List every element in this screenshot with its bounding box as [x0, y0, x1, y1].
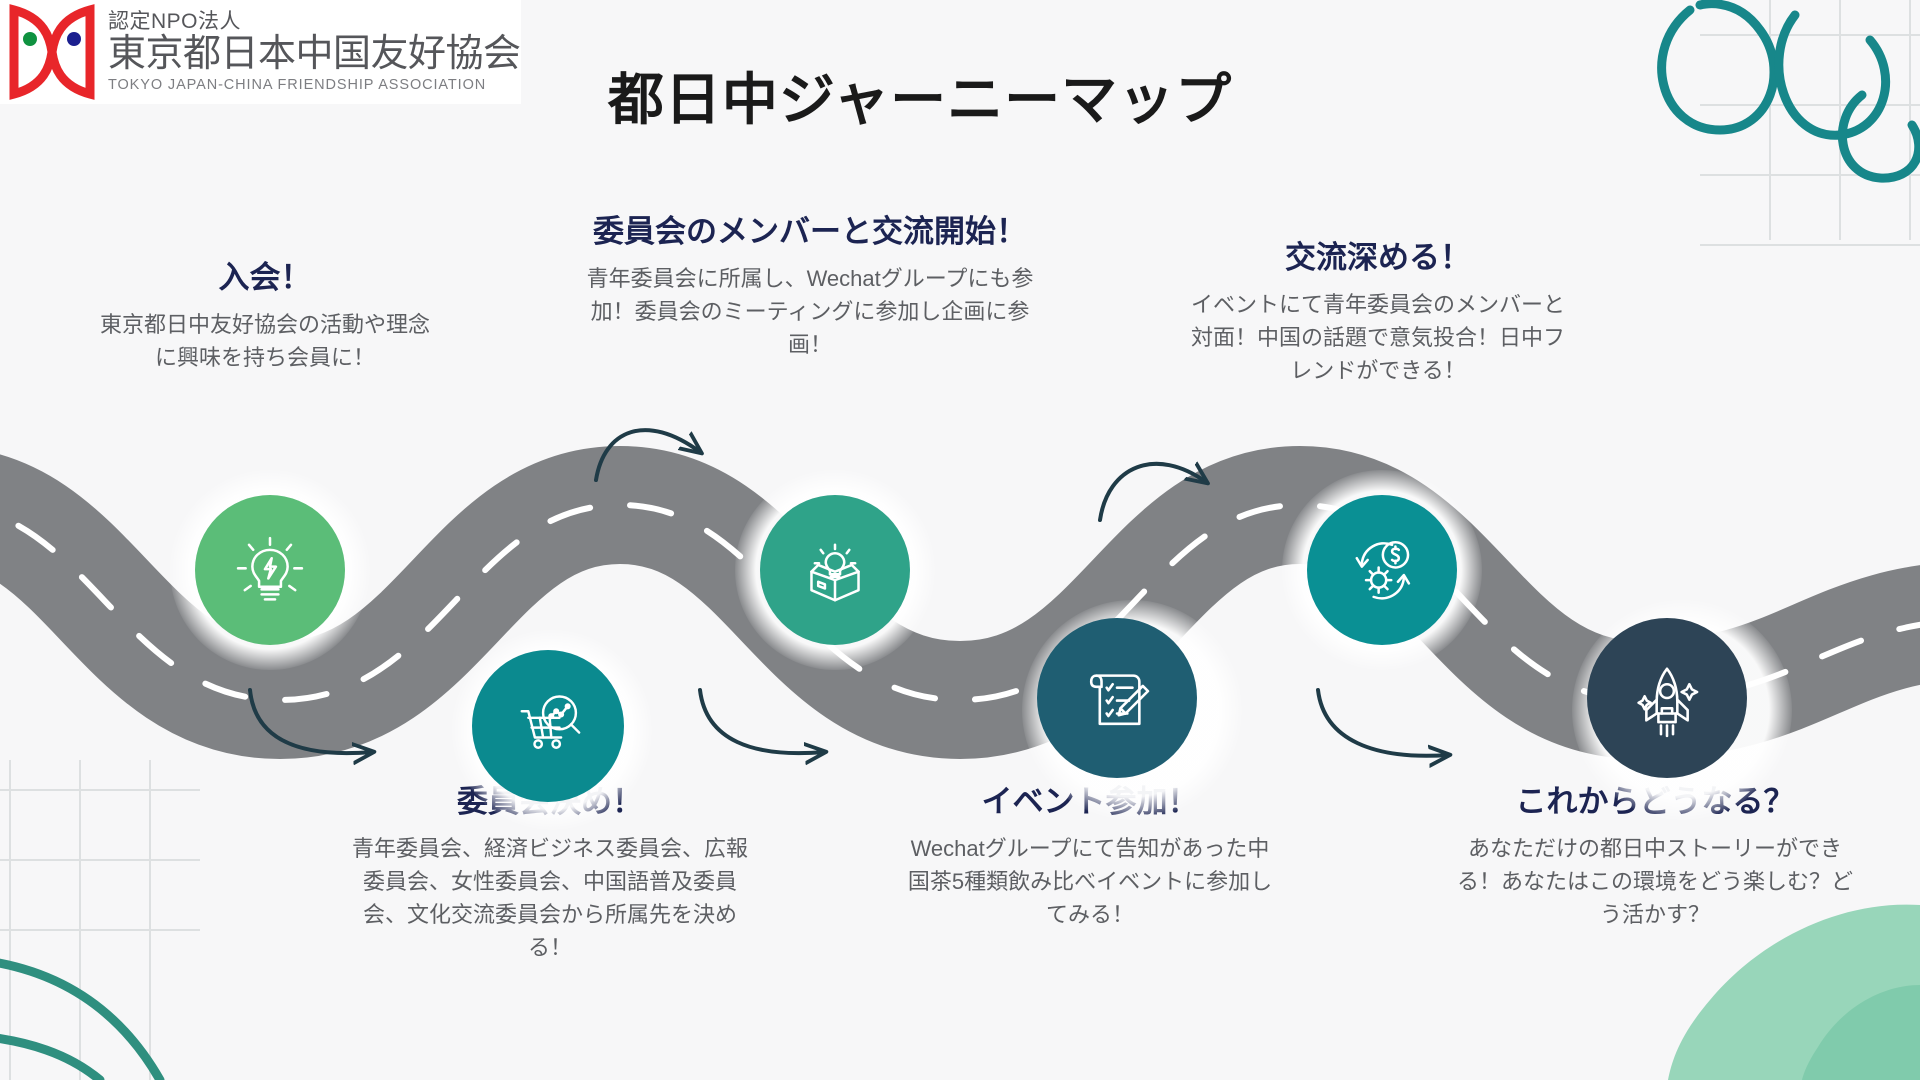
journey-map-canvas: 認定NPO法人 東京都日本中国友好協会 TOKYO JAPAN-CHINA FR…	[0, 0, 1920, 1080]
step-4-body: Wechatグループにて告知があった中国茶5種類飲み比べイベントに参加してみる！	[900, 832, 1280, 931]
step-3-text: 委員会のメンバーと交流開始！ 青年委員会に所属し、Wechatグループにも参加！…	[580, 212, 1040, 361]
gear-dollar-cycle-icon	[1340, 528, 1424, 612]
rocket-icon	[1624, 655, 1710, 741]
arrow-4-5	[1100, 464, 1206, 520]
step-3-node-box-lightbulb[interactable]	[760, 495, 910, 645]
logo-line-npo: 認定NPO法人	[108, 10, 521, 33]
cart-chart-search-icon	[507, 685, 589, 767]
page-title: 都日中ジャーニーマップ	[560, 55, 1280, 136]
step-3-body: 青年委員会に所属し、Wechatグループにも参加！委員会のミーティングに参加し企…	[580, 262, 1040, 361]
step-5-body: イベントにて青年委員会のメンバーと対面！中国の話題で意気投合！日中フレンドができ…	[1188, 288, 1568, 387]
logo-line-name-en: TOKYO JAPAN-CHINA FRIENDSHIP ASSOCIATION	[108, 77, 521, 94]
checklist-pencil-icon	[1074, 655, 1160, 741]
logo-line-name-ja: 東京都日本中国友好協会	[108, 33, 521, 77]
step-6-title: これからどうなる？	[1455, 782, 1855, 822]
logo-dot-green-icon	[23, 32, 37, 46]
step-6-node-rocket[interactable]	[1587, 618, 1747, 778]
organization-logo: 認定NPO法人 東京都日本中国友好協会 TOKYO JAPAN-CHINA FR…	[0, 0, 521, 104]
lightbulb-bolt-icon	[228, 528, 312, 612]
step-5-node-gear-dollar-cycle[interactable]	[1307, 495, 1457, 645]
step-2-body: 青年委員会、経済ビジネス委員会、広報委員会、女性委員会、中国語普及委員会、文化交…	[350, 832, 750, 964]
logo-mark-icon	[0, 0, 104, 104]
box-lightbulb-icon	[793, 528, 877, 612]
logo-dot-blue-icon	[67, 32, 81, 46]
step-4-text: イベント参加！ Wechatグループにて告知があった中国茶5種類飲み比べイベント…	[900, 782, 1280, 931]
step-5-title: 交流深める！	[1188, 238, 1568, 278]
step-2-text: 委員会決め！ 青年委員会、経済ビジネス委員会、広報委員会、女性委員会、中国語普及…	[350, 782, 750, 964]
step-1-node-lightbulb-bolt[interactable]	[195, 495, 345, 645]
arrow-5-6	[1318, 690, 1448, 756]
step-2-node-cart-chart-search[interactable]	[472, 650, 624, 802]
step-1-text: 入会！ 東京都日中友好協会の活動や理念に興味を持ち会員に！	[95, 258, 435, 374]
step-6-body: あなただけの都日中ストーリーができる！あなたはこの環境をどう楽しむ？どう活かす？	[1455, 832, 1855, 931]
step-3-title: 委員会のメンバーと交流開始！	[580, 212, 1040, 252]
step-4-node-checklist-pencil[interactable]	[1037, 618, 1197, 778]
arrow-1-2	[250, 690, 372, 753]
arrow-3-4	[700, 690, 824, 753]
step-1-body: 東京都日中友好協会の活動や理念に興味を持ち会員に！	[95, 308, 435, 374]
arrow-2-3	[596, 430, 700, 480]
step-6-text: これからどうなる？ あなただけの都日中ストーリーができる！あなたはこの環境をどう…	[1455, 782, 1855, 931]
step-1-title: 入会！	[95, 258, 435, 298]
step-5-text: 交流深める！ イベントにて青年委員会のメンバーと対面！中国の話題で意気投合！日中…	[1188, 238, 1568, 387]
step-4-title: イベント参加！	[900, 782, 1280, 822]
